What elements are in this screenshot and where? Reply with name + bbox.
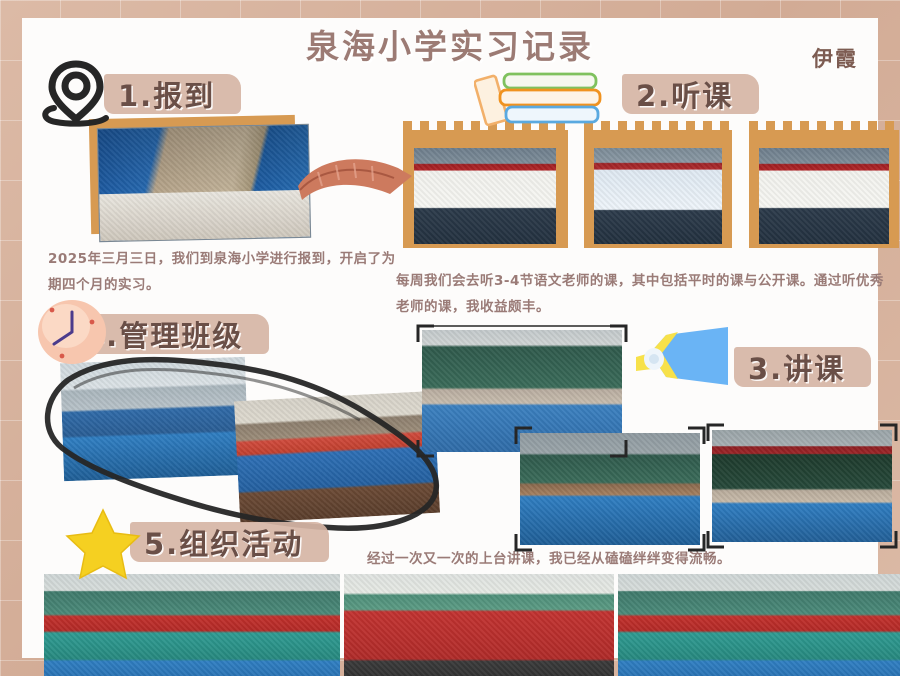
stacked-books-icon: [474, 68, 604, 134]
poster-inner-canvas: 泉海小学实习记录 伊霞 1.报到 2025年三月三日，我们到泉海小学进行报到，开…: [22, 18, 878, 658]
photo-lab-activity-1[interactable]: [44, 574, 340, 676]
photo-lecture-hall-3[interactable]: [759, 148, 889, 244]
author-name: 伊霞: [812, 43, 858, 73]
section-heading-2: 2.听课: [622, 70, 759, 118]
photo-class-listening[interactable]: [520, 433, 700, 545]
curved-arrow-icon: [294, 146, 416, 230]
photo-lab-activity-2[interactable]: [344, 574, 614, 676]
section-heading-3: 3.讲课: [734, 343, 871, 391]
section-heading-1: 1.报到: [104, 70, 241, 118]
photo-students-studying[interactable]: [234, 391, 440, 523]
section-body-1: 2025年三月三日，我们到泉海小学进行报到，开启了为期四个月的实习。: [48, 246, 398, 298]
section-body-3: 经过一次又一次的上台讲课，我已经从磕磕绊绊变得流畅。: [367, 546, 887, 572]
poster-canvas: 泉海小学实习记录 伊霞 1.报到 2025年三月三日，我们到泉海小学进行报到，开…: [0, 0, 900, 676]
megaphone-icon: [632, 323, 736, 405]
photo-lecture-hall-2[interactable]: [594, 148, 722, 244]
page-title: 泉海小学实习记录: [22, 20, 878, 68]
photo-multimedia-lesson[interactable]: [712, 430, 892, 542]
photo-lecture-hall-1[interactable]: [414, 148, 556, 244]
clock-icon: [32, 296, 118, 378]
star-icon: [64, 506, 142, 584]
section-heading-5: 5.组织活动: [130, 518, 329, 566]
photo-school-building[interactable]: [97, 124, 311, 242]
location-pin-icon: [40, 56, 114, 134]
section-body-2: 每周我们会去听3-4节语文老师的课，其中包括平时的课与公开课。通过听优秀老师的课…: [396, 268, 896, 320]
photo-lab-activity-3[interactable]: [618, 574, 900, 676]
